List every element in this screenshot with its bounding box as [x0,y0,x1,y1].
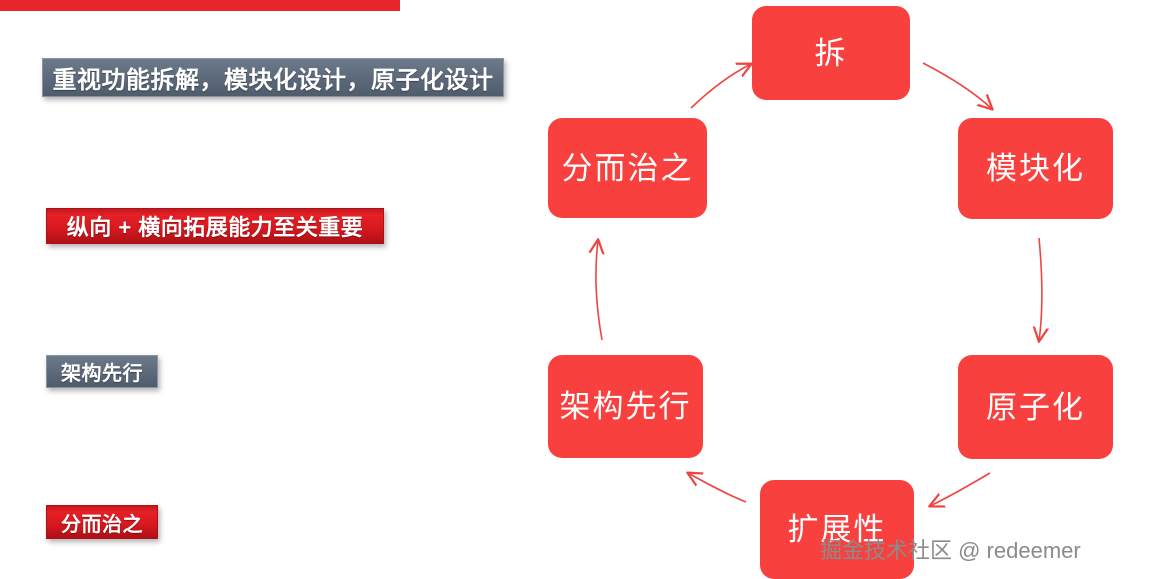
callout-label-text: 架构先行 [61,357,143,386]
cycle-node-jiagouxianxing: 架构先行 [548,355,703,458]
cycle-node-label: 分而治之 [562,153,694,184]
cycle-node-label: 拆 [815,38,848,69]
cycle-node-label: 架构先行 [560,391,692,422]
callout-label-text: 分而治之 [61,508,143,537]
cycle-node-label: 原子化 [986,392,1085,423]
cycle-diagram: 拆 模块化 原子化 扩展性 架构先行 分而治之 [520,0,1149,579]
cycle-node-label: 模块化 [986,153,1085,184]
arrow-yuanzihua-to-kuozhanxing [930,473,990,506]
callout-label-divide-and-conquer: 分而治之 [46,505,158,539]
arrow-chai-to-mokuaihua [923,63,992,109]
arrow-fenerzhizhi-to-chai [691,64,751,108]
callout-label-architecture-first: 架构先行 [46,355,158,388]
slide-canvas: 重视功能拆解，模块化设计，原子化设计 纵向 + 横向拓展能力至关重要 架构先行 … [0,0,1149,579]
callout-label-modularization: 重视功能拆解，模块化设计，原子化设计 [42,58,504,97]
cycle-node-fenerzhizhi: 分而治之 [548,118,707,218]
watermark: 掘金技术社区 @ redeemer [820,533,1081,565]
callout-label-text: 重视功能拆解，模块化设计，原子化设计 [53,60,494,95]
cycle-node-yuanzihua: 原子化 [958,355,1113,459]
arrow-kuozhanxing-to-jiagouxianxing [688,473,746,502]
top-accent-bar [0,0,400,11]
cycle-node-mokuaihua: 模块化 [958,118,1113,219]
arrow-mokuaihua-to-yuanzihua [1039,238,1042,341]
cycle-node-chai: 拆 [752,6,910,100]
callout-label-text: 纵向 + 横向拓展能力至关重要 [67,210,364,242]
callout-label-scalability: 纵向 + 横向拓展能力至关重要 [46,208,384,244]
arrow-jiagouxianxing-to-fenerzhizhi [596,240,602,340]
